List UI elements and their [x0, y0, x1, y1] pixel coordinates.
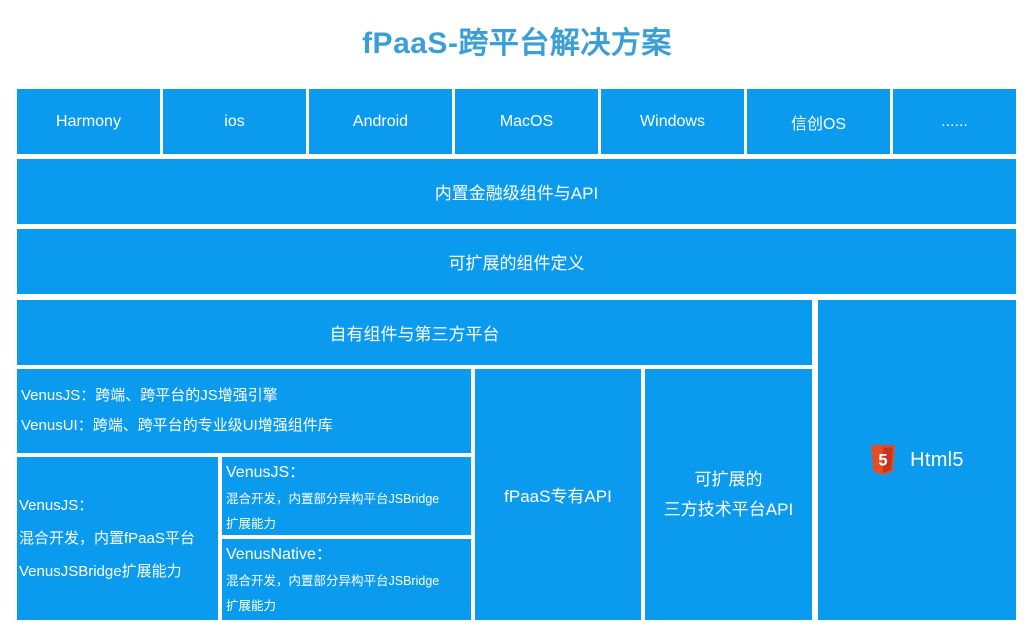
banner-builtin-components[interactable]: 内置金融级组件与API [17, 159, 1016, 224]
platform-tile-label: Windows [640, 113, 705, 131]
banner-label: 可扩展的组件定义 [449, 249, 585, 274]
third-party-api-line-1: 可扩展的 [695, 465, 763, 495]
platform-tile-label: Android [353, 113, 408, 131]
platform-tile-macos[interactable]: MacOS [455, 89, 598, 154]
html5-shield-icon: 5 [870, 445, 896, 475]
platform-tile-android[interactable]: Android [309, 89, 452, 154]
third-party-api-line-2: 三方技术平台API [664, 495, 793, 525]
platform-tile-harmony[interactable]: Harmony [17, 89, 160, 154]
platform-tile-label: ios [224, 113, 244, 131]
platform-tile-label: Harmony [56, 113, 121, 131]
venusnative-nested-body-2: 扩展能力 [226, 594, 276, 619]
block-venusnative-nested[interactable]: VenusNative： 混合开发，内置部分异构平台JSBridge 扩展能力 [222, 539, 471, 620]
platform-tile-ios[interactable]: ios [163, 89, 306, 154]
venusjs-nested-body-2: 扩展能力 [226, 512, 276, 535]
fpaas-api-label: fPaaS专有API [504, 482, 612, 507]
venusnative-nested-title: VenusNative： [226, 541, 332, 569]
html5-label: Html5 [910, 449, 964, 472]
venusjs-hybrid-body-1: 混合开发，内置fPaaS平台 [19, 522, 195, 555]
venusjs-nested-body-1: 混合开发，内置部分异构平台JSBridge [226, 487, 439, 512]
diagram-canvas: fPaaS-跨平台解决方案 Harmony ios Android MacOS … [0, 0, 1034, 634]
venus-summary-line-ui: VenusUI：跨端、跨平台的专业级UI增强组件库 [21, 411, 333, 441]
venusnative-nested-body-1: 混合开发，内置部分异构平台JSBridge [226, 569, 439, 594]
platform-tile-windows[interactable]: Windows [601, 89, 744, 154]
platform-row: Harmony ios Android MacOS Windows 信创OS .… [17, 89, 1016, 154]
column-fpaas-api[interactable]: fPaaS专有API [475, 369, 641, 620]
page-title: fPaaS-跨平台解决方案 [0, 18, 1034, 62]
banner-label: 内置金融级组件与API [435, 179, 598, 204]
html5-logo-group: 5 Html5 [870, 445, 964, 475]
banner-label: 自有组件与第三方平台 [330, 320, 500, 345]
column-html5[interactable]: 5 Html5 [818, 300, 1016, 620]
svg-text:5: 5 [879, 452, 888, 470]
platform-tile-label: 信创OS [791, 110, 846, 134]
platform-tile-label: MacOS [500, 113, 553, 131]
block-venus-summary[interactable]: VenusJS：跨端、跨平台的JS增强引擎 VenusUI：跨端、跨平台的专业级… [17, 369, 471, 453]
venusjs-hybrid-title: VenusJS： [19, 489, 93, 522]
platform-tile-xinchuang-os[interactable]: 信创OS [747, 89, 890, 154]
block-venusjs-nested[interactable]: VenusJS： 混合开发，内置部分异构平台JSBridge 扩展能力 [222, 457, 471, 535]
column-third-party-api[interactable]: 可扩展的 三方技术平台API [645, 369, 812, 620]
platform-tile-more[interactable]: ...... [893, 89, 1016, 154]
banner-extendable-definition[interactable]: 可扩展的组件定义 [17, 229, 1016, 294]
venusjs-hybrid-body-2: VenusJSBridge扩展能力 [19, 555, 182, 588]
venusjs-nested-title: VenusJS： [226, 459, 305, 487]
venus-summary-line-js: VenusJS：跨端、跨平台的JS增强引擎 [21, 381, 278, 411]
banner-own-components[interactable]: 自有组件与第三方平台 [17, 300, 812, 365]
platform-tile-label: ...... [941, 113, 968, 131]
block-venusjs-hybrid[interactable]: VenusJS： 混合开发，内置fPaaS平台 VenusJSBridge扩展能… [17, 457, 218, 620]
